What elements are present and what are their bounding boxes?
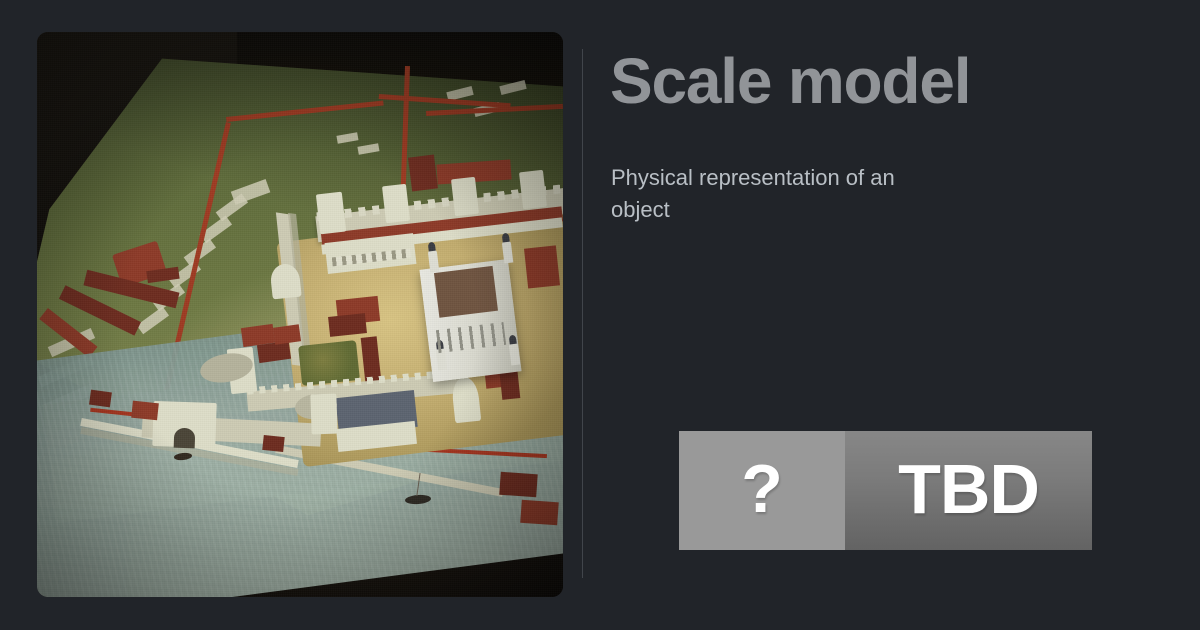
photo-canvas bbox=[37, 32, 563, 597]
corner-tower bbox=[519, 170, 547, 209]
corner-tower bbox=[382, 183, 410, 222]
corner-tower bbox=[316, 192, 347, 234]
keep-courtyard-roof bbox=[434, 265, 498, 317]
wharf-hut bbox=[262, 435, 284, 452]
page-subtitle: Physical representation of an object bbox=[611, 162, 941, 226]
bailey-house bbox=[524, 245, 560, 288]
bailey-house bbox=[273, 324, 301, 344]
badge-icon-panel: ? bbox=[679, 431, 845, 550]
question-mark-icon: ? bbox=[741, 455, 783, 523]
wharf-hut bbox=[131, 401, 159, 421]
vertical-divider bbox=[582, 49, 583, 578]
page-title: Scale model bbox=[610, 45, 970, 117]
badge-text-panel: TBD bbox=[845, 431, 1092, 550]
badge-label: TBD bbox=[898, 454, 1039, 524]
og-preview-card: Scale model Physical representation of a… bbox=[0, 0, 1200, 630]
gate-arch bbox=[173, 427, 195, 447]
outer-wall-tower bbox=[310, 393, 338, 433]
scale-model-photo[interactable] bbox=[37, 32, 563, 597]
wharf-hut bbox=[520, 500, 558, 525]
bailey-house bbox=[328, 313, 367, 337]
corner-tower bbox=[451, 177, 479, 216]
white-tower-keep bbox=[420, 259, 523, 382]
tbd-badge[interactable]: ? TBD bbox=[679, 431, 1092, 550]
red-gatehouse bbox=[408, 155, 438, 192]
wharf-hut bbox=[89, 389, 112, 406]
wharf-hut bbox=[499, 471, 537, 496]
